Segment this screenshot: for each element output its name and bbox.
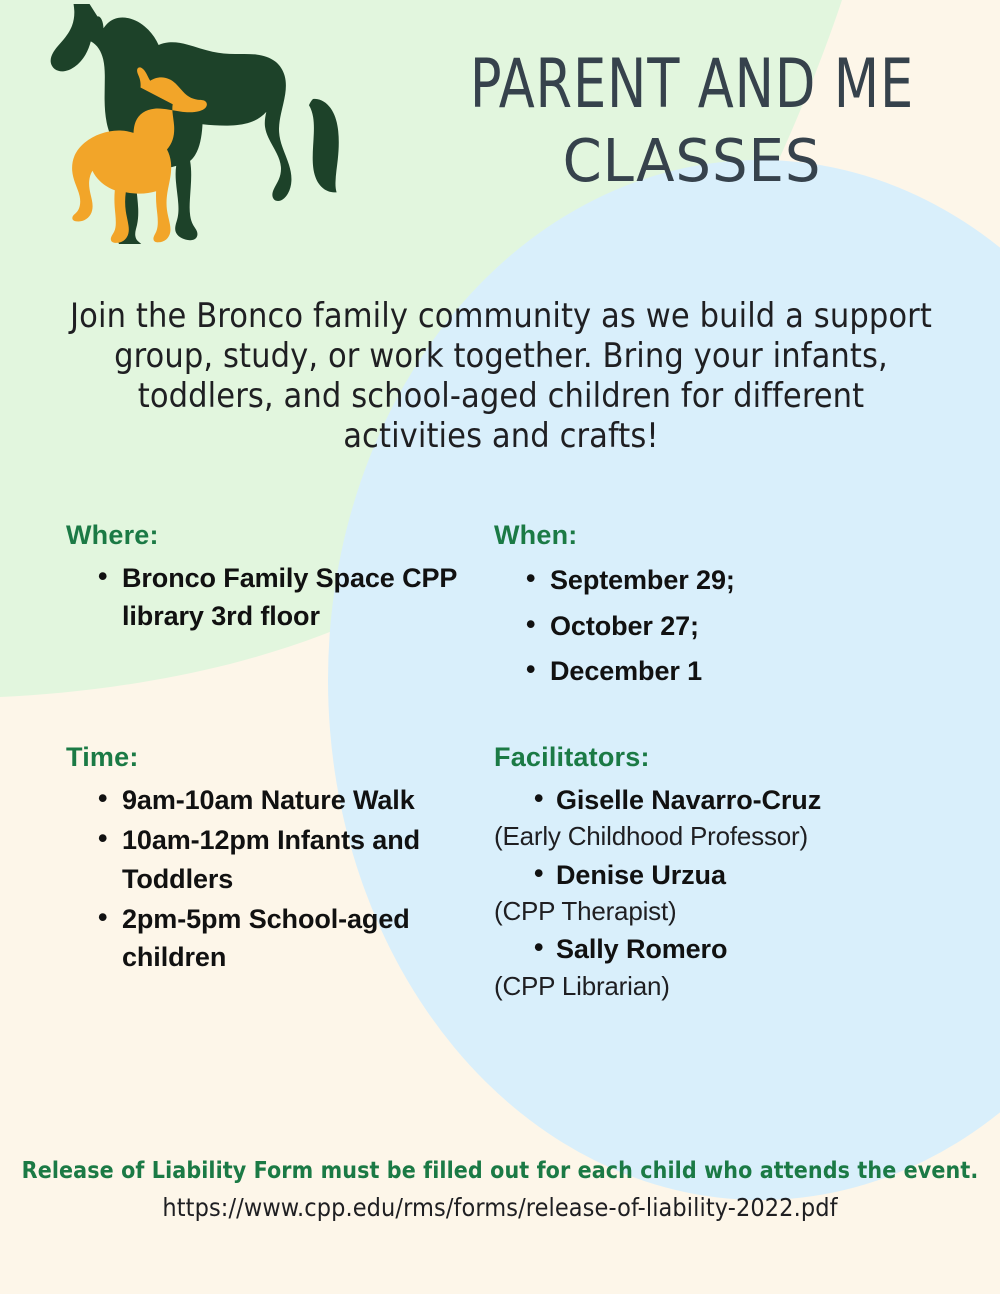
horse-logo [24, 4, 384, 244]
section-when: When: September 29; October 27; December… [494, 520, 934, 696]
facilitator-role: (CPP Therapist) [494, 894, 964, 928]
list-item: Denise Urzua (CPP Therapist) [494, 856, 964, 929]
where-list: Bronco Family Space CPP library 3rd floo… [66, 559, 486, 636]
flyer-footer: Release of Liability Form must be filled… [0, 1158, 1000, 1222]
liability-note: Release of Liability Form must be filled… [0, 1158, 1000, 1184]
section-time-heading: Time: [66, 742, 466, 773]
section-when-heading: When: [494, 520, 934, 551]
list-item: 10am-12pm Infants and Toddlers [66, 821, 466, 898]
facilitator-name: Sally Romero [556, 934, 727, 964]
facilitator-name: Denise Urzua [556, 860, 726, 890]
list-item: Giselle Navarro-Cruz (Early Childhood Pr… [494, 781, 964, 854]
list-item: Bronco Family Space CPP library 3rd floo… [66, 559, 486, 636]
section-facilitators-heading: Facilitators: [494, 742, 964, 773]
intro-paragraph: Join the Bronco family community as we b… [70, 296, 932, 456]
list-item: 9am-10am Nature Walk [66, 781, 466, 819]
section-where: Where: Bronco Family Space CPP library 3… [66, 520, 486, 638]
page-title-line2: CLASSES [407, 131, 977, 190]
adult-horse-tail [309, 99, 339, 193]
page-title-line1: PARENT AND ME [434, 52, 950, 119]
list-item: Sally Romero (CPP Librarian) [494, 930, 964, 1003]
facilitators-list: Giselle Navarro-Cruz (Early Childhood Pr… [494, 781, 964, 1003]
title-block: PARENT AND ME CLASSES [392, 52, 992, 190]
list-item: December 1 [494, 650, 934, 694]
list-item: October 27; [494, 605, 934, 649]
time-list: 9am-10am Nature Walk 10am-12pm Infants a… [66, 781, 466, 977]
liability-form-url[interactable]: https://www.cpp.edu/rms/forms/release-of… [0, 1193, 1000, 1222]
section-where-heading: Where: [66, 520, 486, 551]
list-item: September 29; [494, 559, 934, 603]
facilitator-role: (Early Childhood Professor) [494, 819, 964, 853]
facilitator-name: Giselle Navarro-Cruz [556, 785, 821, 815]
info-grid: Where: Bronco Family Space CPP library 3… [0, 520, 1000, 1100]
flyer-header: PARENT AND ME CLASSES [0, 0, 1000, 250]
facilitator-role: (CPP Librarian) [494, 969, 964, 1003]
list-item: 2pm-5pm School-aged children [66, 900, 466, 977]
when-list: September 29; October 27; December 1 [494, 559, 934, 694]
section-time: Time: 9am-10am Nature Walk 10am-12pm Inf… [66, 742, 466, 979]
section-facilitators: Facilitators: Giselle Navarro-Cruz (Earl… [494, 742, 964, 1005]
flyer-canvas: PARENT AND ME CLASSES Join the Bronco fa… [0, 0, 1000, 1294]
